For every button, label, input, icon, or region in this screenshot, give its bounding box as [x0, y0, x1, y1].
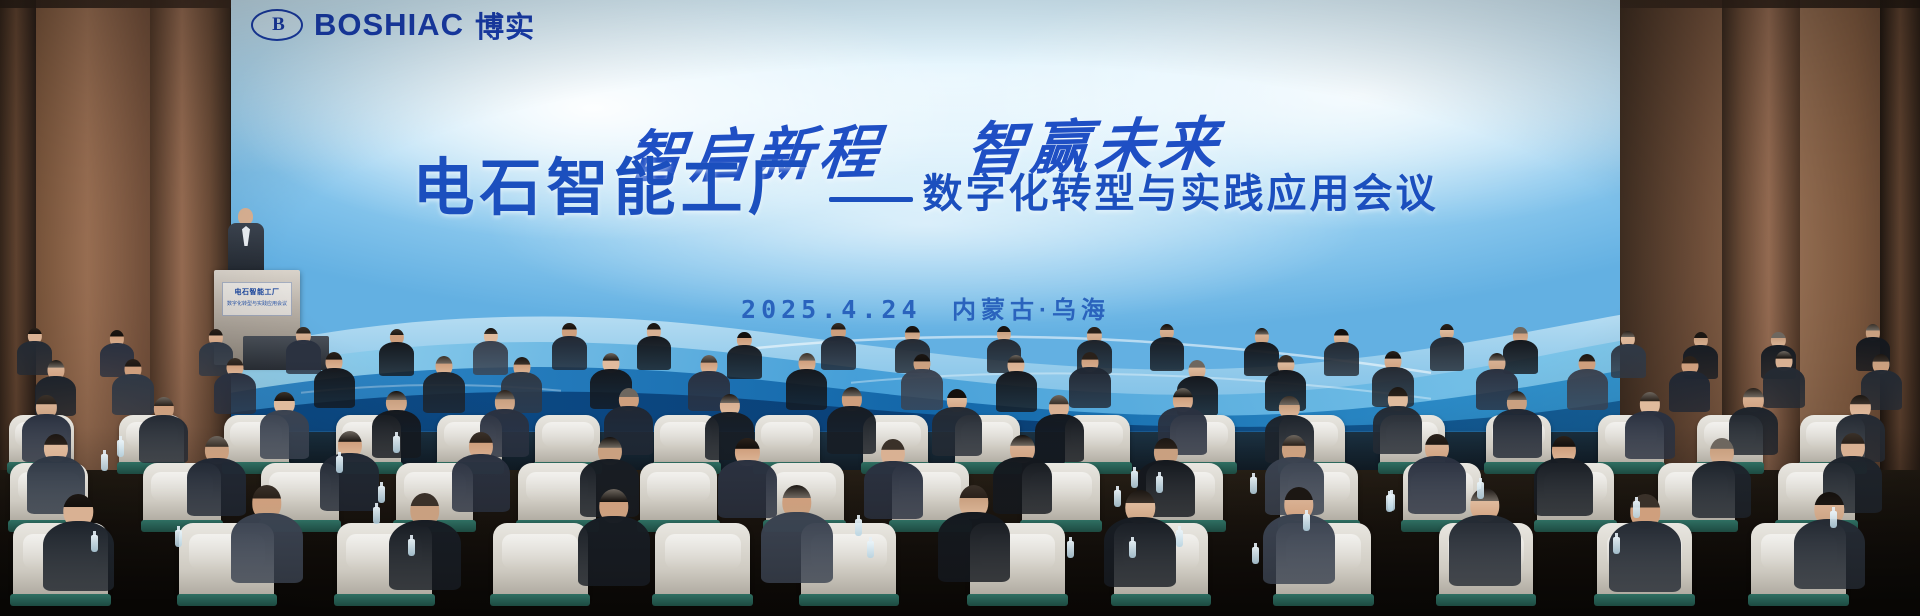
audience-member: [260, 392, 309, 459]
audience-member: [1534, 436, 1593, 516]
audience-member: [786, 353, 827, 409]
audience-member: [320, 431, 379, 511]
water-bottle: [1388, 494, 1395, 511]
water-bottle: [393, 436, 400, 453]
water-bottle: [1129, 541, 1136, 558]
speaker-person: [228, 208, 264, 274]
water-bottle: [855, 519, 862, 536]
chair-seat-band: [490, 594, 590, 606]
chair-seat-band: [1436, 594, 1536, 606]
audience-member: [1692, 438, 1751, 518]
water-bottle: [1303, 514, 1310, 531]
audience-body: [1609, 521, 1681, 591]
audience-body: [1534, 458, 1593, 516]
audience-body: [637, 336, 672, 370]
audience-chair: [655, 523, 750, 600]
audience-chair: [493, 523, 588, 600]
water-bottle: [117, 440, 124, 457]
audience-body: [552, 336, 587, 370]
audience-member: [552, 323, 587, 370]
screen-title-main: 电石智能工厂: [412, 158, 814, 220]
audience-member: [214, 358, 255, 414]
chair-seat-band: [1594, 594, 1694, 606]
chair-seat-band: [334, 594, 434, 606]
audience-member: [932, 389, 981, 456]
audience-member: [1794, 492, 1866, 589]
chair-seat-band: [10, 594, 110, 606]
audience-member: [938, 485, 1010, 582]
audience-body: [379, 342, 414, 376]
chair-seat-band: [1273, 594, 1373, 606]
audience-body: [1430, 337, 1465, 371]
audience-member: [1611, 331, 1646, 378]
brand-wordmark-cn: 博实: [475, 4, 535, 46]
audience-member: [1567, 354, 1608, 410]
audience-member: [1324, 329, 1359, 376]
screen-title-dash: [829, 197, 913, 202]
audience-member: [996, 355, 1037, 411]
audience-member: [139, 397, 188, 464]
audience-member: [231, 485, 303, 582]
audience-body: [864, 461, 923, 519]
water-bottle: [1131, 471, 1138, 488]
audience-body: [231, 513, 303, 583]
audience-member: [1669, 356, 1710, 412]
water-bottle: [91, 535, 98, 552]
audience-member: [379, 329, 414, 376]
audience-member: [423, 356, 464, 412]
audience-member: [864, 439, 923, 519]
audience-body: [1611, 344, 1646, 378]
chair-seat-band: [652, 594, 752, 606]
audience-member: [578, 489, 650, 586]
audience-body: [761, 512, 833, 582]
water-bottle: [378, 486, 385, 503]
audience-body: [139, 415, 188, 463]
water-bottle: [1252, 547, 1259, 564]
water-bottle: [1176, 530, 1183, 547]
audience-member: [43, 494, 115, 591]
audience-member: [314, 352, 355, 408]
audience-member: [637, 323, 672, 370]
screen-title-sub: 数字化转型与实践应用会议: [923, 174, 1439, 220]
audience-body: [1104, 517, 1176, 587]
podium-sign-line1: 电石智能工厂: [223, 287, 291, 297]
audience-body: [1692, 461, 1751, 519]
audience-body: [320, 453, 379, 511]
water-bottle: [1830, 511, 1837, 528]
water-bottle: [1114, 490, 1121, 507]
audience-member: [1430, 324, 1465, 371]
conference-photo: 智启新程 智赢未来 电石智能工厂 数字化转型与实践应用会议 2025.4.24 …: [0, 0, 1920, 616]
chair-seat-band: [799, 594, 899, 606]
audience-body: [43, 521, 115, 591]
audience-body: [260, 410, 309, 458]
water-bottle: [336, 456, 343, 473]
audience-body: [1794, 519, 1866, 589]
water-bottle: [101, 454, 108, 471]
audience-area: [0, 300, 1920, 616]
water-bottle: [1633, 501, 1640, 518]
audience-body: [314, 368, 355, 409]
audience-member: [1263, 487, 1335, 584]
brand-logo: B BOSHIAC 博实: [251, 6, 535, 44]
water-bottle: [1250, 477, 1257, 494]
audience-body: [938, 512, 1010, 582]
audience-body: [1669, 371, 1710, 412]
audience-member: [1625, 392, 1674, 459]
water-bottle: [1067, 541, 1074, 558]
audience-body: [423, 372, 464, 413]
chair-seat-band: [1111, 594, 1211, 606]
boshiac-emblem-icon: B: [251, 9, 303, 41]
audience-body: [578, 516, 650, 586]
audience-body: [1625, 411, 1674, 459]
audience-chair: [640, 463, 718, 526]
audience-member: [1449, 488, 1521, 585]
audience-member: [727, 332, 762, 379]
audience-body: [1567, 369, 1608, 410]
chair-seat-band: [967, 594, 1067, 606]
audience-body: [996, 371, 1037, 412]
water-bottle: [1613, 537, 1620, 554]
screen-title-row: 电石智能工厂 数字化转型与实践应用会议: [231, 158, 1620, 220]
water-bottle: [867, 541, 874, 558]
brand-wordmark: BOSHIAC: [314, 7, 464, 43]
emblem-glyph: B: [272, 14, 282, 36]
audience-body: [214, 373, 255, 414]
water-bottle: [1477, 482, 1484, 499]
audience-body: [1263, 514, 1335, 584]
water-bottle: [408, 539, 415, 556]
audience-body: [1324, 342, 1359, 376]
audience-body: [389, 520, 461, 590]
audience-member: [1609, 494, 1681, 591]
chair-seat-band: [177, 594, 277, 606]
audience-body: [786, 369, 827, 410]
audience-member: [761, 485, 833, 582]
audience-body: [1449, 515, 1521, 585]
audience-body: [932, 407, 981, 455]
water-bottle: [373, 507, 380, 524]
water-bottle: [175, 530, 182, 547]
chair-seat-band: [1748, 594, 1848, 606]
audience-body: [727, 345, 762, 379]
audience-member: [389, 493, 461, 590]
water-bottle: [1156, 476, 1163, 493]
